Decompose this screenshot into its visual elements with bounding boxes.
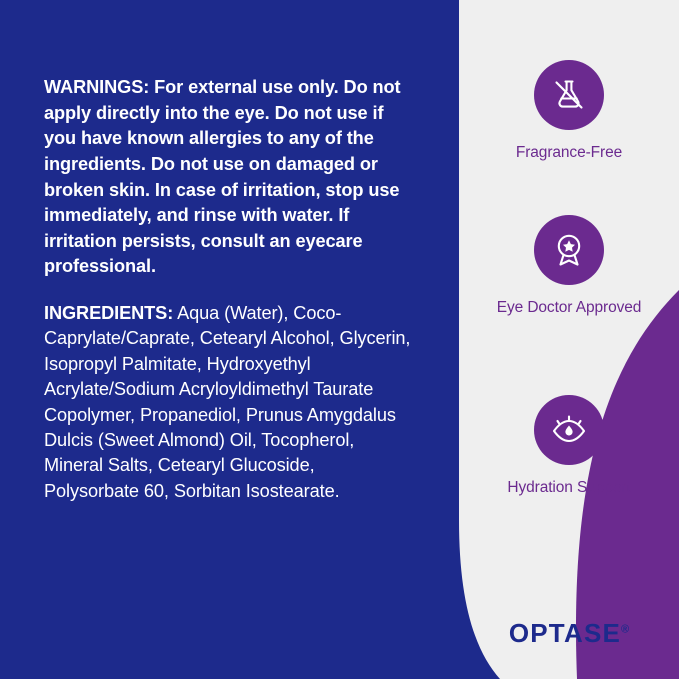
- badge-hydration-support: Hydration Support: [459, 395, 679, 497]
- award-ribbon-icon: [548, 229, 590, 271]
- no-fragrance-flask-icon: [548, 74, 590, 116]
- ingredients-list: Aqua (Water), Coco-Caprylate/Caprate, Ce…: [44, 303, 410, 501]
- badge-circle: [534, 395, 604, 465]
- brand-name: OPTASE: [509, 618, 621, 648]
- brand-logo: OPTASE®: [459, 618, 679, 649]
- label-text-column: WARNINGS: For external use only. Do not …: [44, 57, 414, 522]
- registered-mark: ®: [621, 623, 629, 635]
- badge-fragrance-free: Fragrance-Free: [459, 60, 679, 162]
- ingredients-text: INGREDIENTS: Aqua (Water), Coco-Caprylat…: [44, 301, 414, 504]
- product-label-page: WARNINGS: For external use only. Do not …: [0, 0, 679, 679]
- badge-label: Eye Doctor Approved: [459, 298, 679, 317]
- badge-circle: [534, 215, 604, 285]
- ingredients-label: INGREDIENTS:: [44, 303, 173, 323]
- badge-eye-doctor-approved: Eye Doctor Approved: [459, 215, 679, 317]
- badge-label: Hydration Support: [459, 478, 679, 497]
- eye-hydration-icon: [547, 408, 591, 452]
- badge-circle: [534, 60, 604, 130]
- badge-label: Fragrance-Free: [459, 143, 679, 162]
- warnings-text: WARNINGS: For external use only. Do not …: [44, 75, 414, 280]
